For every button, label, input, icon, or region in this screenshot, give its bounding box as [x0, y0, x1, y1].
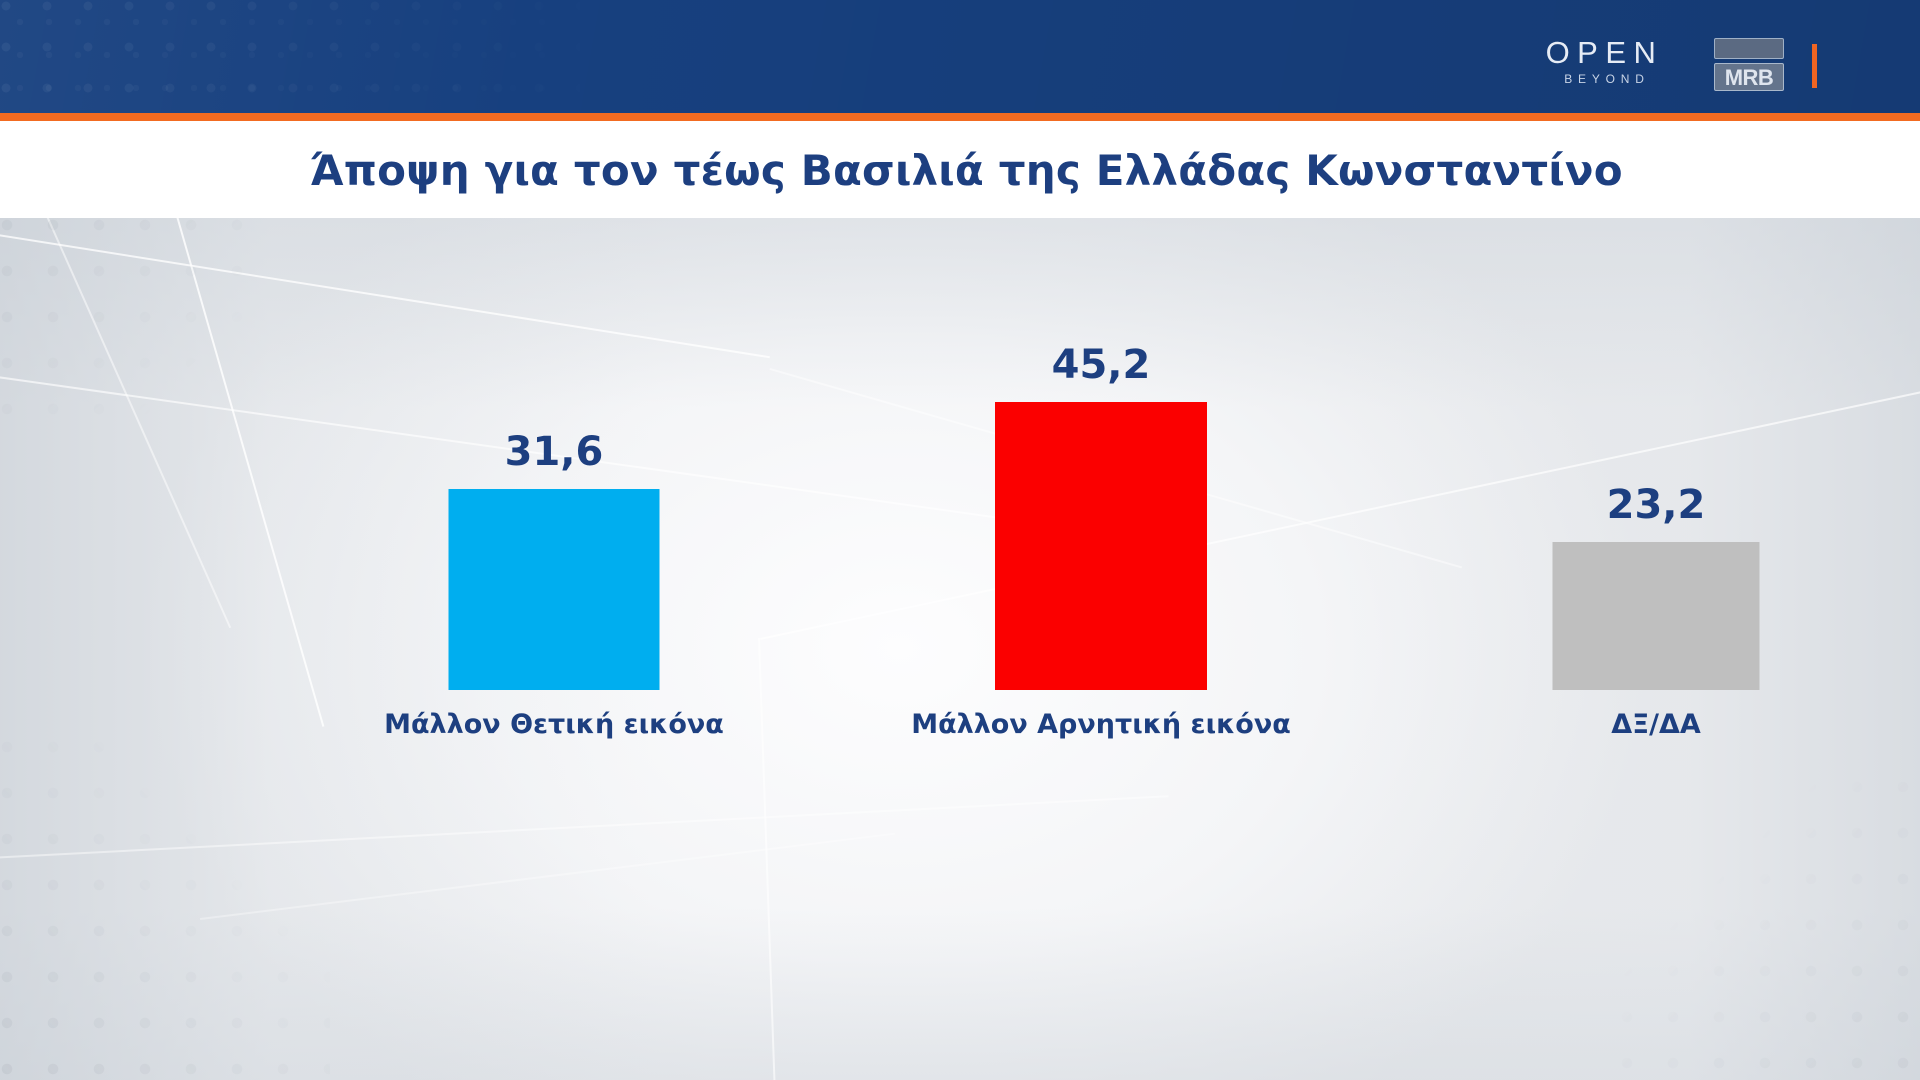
mrb-logo-top-block [1714, 38, 1784, 59]
open-wordmark: OPEN [1527, 37, 1682, 68]
bar-label-0: Μάλλον Θετική εικόνα [348, 709, 760, 740]
orange-divider-rule [0, 113, 1920, 121]
chart-area: 31,6 Μάλλον Θετική εικόνα 45,2 Μάλλον Αρ… [0, 218, 1920, 1080]
bar-rect-0 [449, 489, 660, 690]
mrb-wordmark: MRB [1714, 63, 1784, 91]
bar-group-1: 45,2 Μάλλον Αρνητική εικόνα [895, 218, 1307, 1080]
header-orange-tick [1812, 44, 1817, 88]
bar-value-1: 45,2 [895, 342, 1307, 388]
bar-value-2: 23,2 [1450, 482, 1862, 528]
bar-label-2: ΔΞ/ΔΑ [1450, 709, 1862, 740]
page-title: Άποψη για τον τέως Βασιλιά της Ελλάδας Κ… [310, 146, 1623, 195]
open-beyond-logo: OPEN BEYOND [1527, 37, 1682, 89]
title-band: Άποψη για τον τέως Βασιλιά της Ελλάδας Κ… [0, 121, 1920, 218]
bar-label-1: Μάλλον Αρνητική εικόνα [895, 709, 1307, 740]
broadcast-graphic-slide: OPEN BEYOND MRB Άποψη για τον τέως Βασιλ… [0, 0, 1920, 1080]
mrb-logo: MRB [1714, 38, 1786, 92]
background-dot-pattern-bottom-left [0, 740, 330, 1080]
bar-rect-1 [995, 402, 1207, 690]
beyond-wordmark: BEYOND [1527, 73, 1682, 85]
bar-rect-2 [1553, 542, 1760, 690]
bar-value-0: 31,6 [348, 429, 760, 475]
bar-group-2: 23,2 ΔΞ/ΔΑ [1450, 218, 1862, 1080]
background-dot-pattern-top-left [0, 218, 260, 448]
bar-group-0: 31,6 Μάλλον Θετική εικόνα [348, 218, 760, 1080]
